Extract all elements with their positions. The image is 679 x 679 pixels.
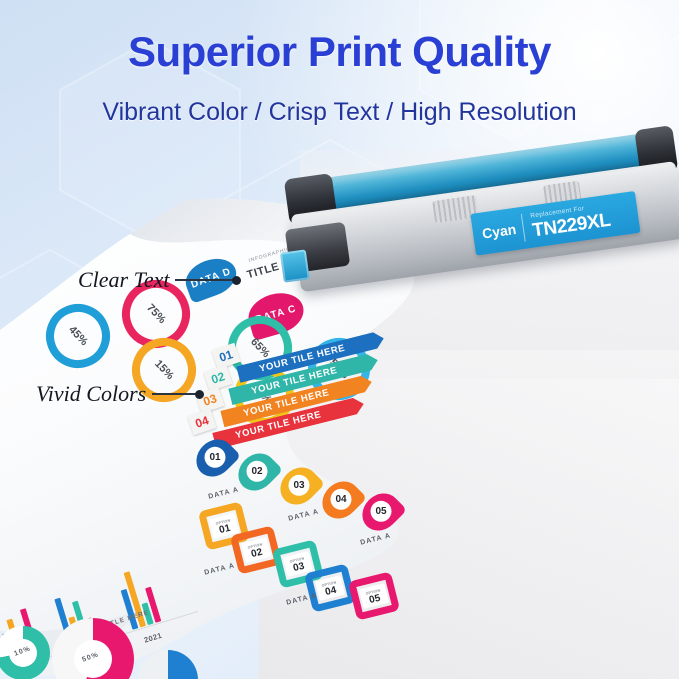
step-badge-number: 01 [205,448,226,469]
step-caption-01: DATA A [208,486,240,500]
percent-ring-value: 45% [66,324,90,348]
option-frame-body: OPTION04 [315,575,345,601]
product-marketing-image: Superior Print Quality Vibrant Color / C… [0,0,679,679]
cartridge-color-name: Cyan [472,220,524,243]
option-frame-body: OPTION05 [359,583,389,609]
callout-label: Clear Text [78,267,169,293]
option-frame-number: 03 [293,563,305,572]
page-subtitle: Vibrant Color / Crisp Text / High Resolu… [0,98,679,127]
step-badge-number: 04 [331,490,352,511]
option-frame-body: OPTION02 [241,537,271,563]
option-frame-number: 01 [219,525,231,534]
step-badge-number: 03 [289,476,310,497]
callout-vivid-colors: Vivid Colors [36,381,204,407]
donut-chart-blue [138,650,198,679]
chart-axis-label-2021: 2021 [143,631,163,645]
cartridge-chip [280,249,310,282]
callout-dot [195,390,204,399]
label-right-column: Replacement For TN229XL [522,201,612,243]
callout-leader-line [152,393,196,395]
page-title: Superior Print Quality [0,28,679,76]
callout-label: Vivid Colors [36,381,146,407]
step-badge-number: 05 [371,502,392,523]
percent-ring-value: 65% [248,336,272,360]
callout-clear-text: Clear Text [78,267,241,293]
percent-ring-45: 45% [36,294,119,377]
step-caption-03: DATA A [288,508,320,522]
option-frame-number: 04 [325,587,337,596]
option-caption-a: DATA A [204,562,236,576]
step-badge-number: 02 [247,462,268,483]
callout-dot [232,276,241,285]
percent-ring-value: 75% [144,302,168,326]
option-frame-05: OPTION05 [348,571,400,620]
option-frame-number: 05 [369,595,381,604]
step-caption-05: DATA A [360,532,392,546]
percent-ring-value: 15% [152,358,176,382]
banner-number-04: 04 [187,409,216,435]
callout-leader-line [175,279,233,281]
option-frame-number: 02 [251,549,263,558]
